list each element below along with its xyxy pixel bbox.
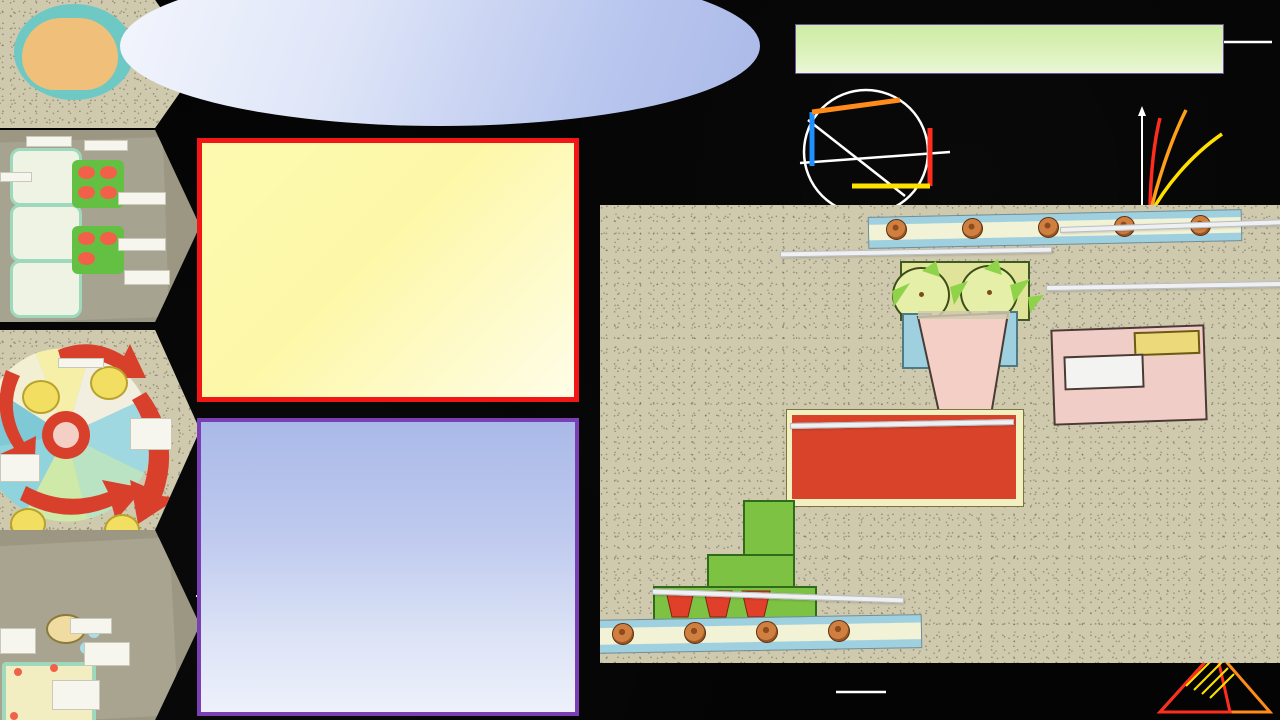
enzyme-display-photo: [0, 530, 200, 720]
sidebar-item-cycle-wheel-display[interactable]: [0, 330, 200, 530]
conveyor-roller: [962, 218, 983, 239]
teaching-points-panel: [197, 138, 579, 402]
sidebar-photo-strip: [0, 0, 200, 720]
cycle-wheel-display-photo: [0, 330, 200, 530]
site-office-window: [1063, 354, 1144, 391]
conveyor-roller: [756, 621, 778, 643]
conveyor-roller: [828, 620, 850, 642]
page-title: [150, 0, 730, 104]
recycling-process-photo[interactable]: [600, 205, 1280, 663]
site-office-sign: [1134, 330, 1201, 356]
conveyor-roller: [612, 623, 634, 645]
slide-canvas: [0, 0, 1280, 720]
sidebar-item-enzyme-display[interactable]: [0, 530, 200, 720]
conveyor-roller: [684, 622, 706, 644]
key-information-panel: [197, 418, 579, 716]
conveyor-roller: [886, 219, 907, 240]
plant-cell-display-photo: [0, 130, 200, 322]
sidebar-item-plant-cell-display[interactable]: [0, 130, 200, 322]
label-body: [795, 422, 1009, 426]
topic-badge: [795, 24, 1224, 74]
label-heading: [795, 422, 1009, 426]
conveyor-roller: [1038, 217, 1059, 238]
label-body: [1051, 284, 1279, 288]
label-heading: [1051, 284, 1279, 288]
